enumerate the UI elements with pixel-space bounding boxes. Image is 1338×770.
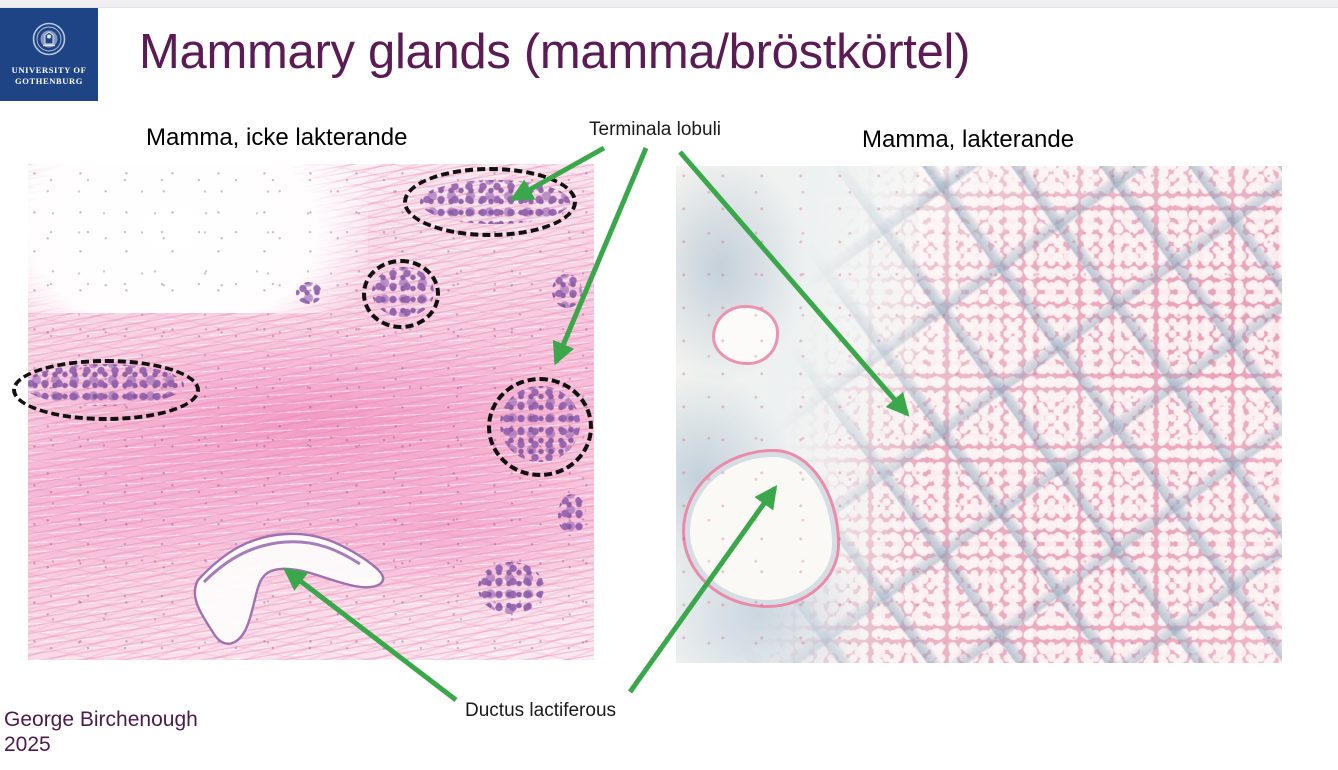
marker-ellipse-lobule-3 [12, 359, 200, 421]
caption-right-panel: Mamma, lakterande [862, 126, 1074, 154]
erythrocyte-speckle-layer [676, 166, 1282, 663]
footer-author: George Birchenough [4, 707, 198, 732]
page-title: Mammary glands (mamma/bröstkörtel) [139, 24, 970, 80]
slide-canvas: UNIVERSITY OF GOTHENBURG Mammary glands … [0, 0, 1338, 770]
annotation-label-ductus-lactiferous: Ductus lactiferous [465, 700, 616, 722]
annotation-label-terminala-lobuli: Terminala lobuli [589, 119, 721, 141]
logo-text: UNIVERSITY OF GOTHENBURG [12, 65, 87, 87]
marker-ellipse-lobule-1 [403, 167, 577, 237]
university-seal-icon [32, 22, 66, 61]
marker-ellipse-lobule-2 [362, 259, 440, 329]
marker-ellipse-lobule-4 [487, 377, 593, 477]
caption-left-panel: Mamma, icke lakterande [146, 124, 407, 152]
histology-image-lactating [676, 166, 1282, 663]
window-top-strip [0, 0, 1338, 8]
footer-year: 2025 [4, 732, 198, 757]
university-of-gothenburg-logo: UNIVERSITY OF GOTHENBURG [0, 8, 98, 101]
footer: George Birchenough 2025 [4, 707, 198, 757]
